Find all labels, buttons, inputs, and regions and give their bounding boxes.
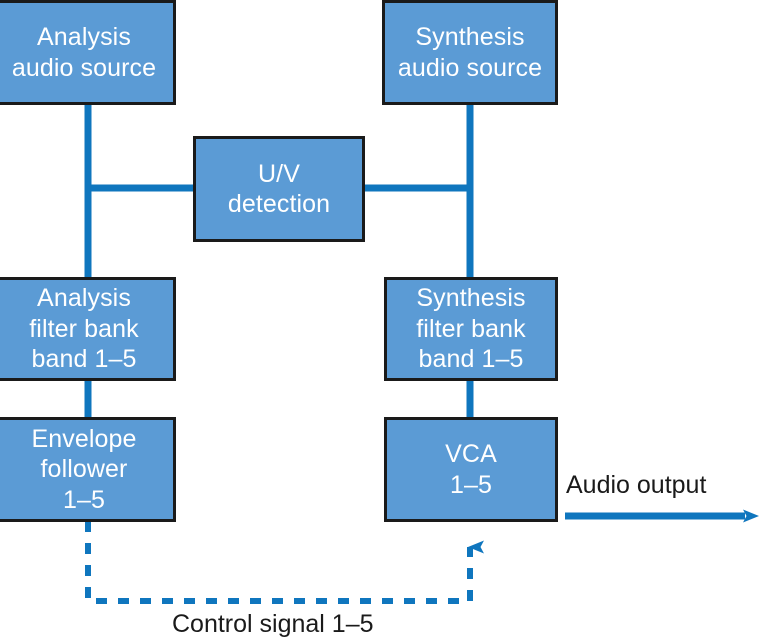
node-line: audio source <box>392 53 548 84</box>
node-analysis-audio-source-label: Analysis audio source <box>0 22 168 83</box>
node-line: U/V <box>222 159 336 190</box>
node-uv-detection-label: U/V detection <box>216 159 342 220</box>
node-vca[interactable]: VCA 1–5 <box>384 417 558 522</box>
node-line: filter bank <box>410 314 532 345</box>
node-synthesis-filter-bank[interactable]: Synthesis filter bank band 1–5 <box>384 277 558 381</box>
node-line: audio source <box>6 53 162 84</box>
node-line: follower <box>25 454 142 485</box>
node-line: Synthesis <box>392 22 548 53</box>
node-analysis-audio-source[interactable]: Analysis audio source <box>0 0 176 105</box>
node-line: Analysis <box>23 283 145 314</box>
caption-control-signal: Control signal 1–5 <box>172 610 374 639</box>
node-line: 1–5 <box>25 485 142 516</box>
node-line: Synthesis <box>410 283 532 314</box>
node-line: band 1–5 <box>23 344 145 375</box>
node-line: band 1–5 <box>410 344 532 375</box>
node-envelope-follower-label: Envelope follower 1–5 <box>19 424 148 516</box>
caption-audio-output: Audio output <box>566 471 706 500</box>
node-uv-detection[interactable]: U/V detection <box>193 136 365 242</box>
node-analysis-filter-bank[interactable]: Analysis filter bank band 1–5 <box>0 277 176 381</box>
node-envelope-follower[interactable]: Envelope follower 1–5 <box>0 417 176 522</box>
node-line: detection <box>222 189 336 220</box>
block-diagram-canvas: Analysis audio source Synthesis audio so… <box>0 0 772 642</box>
node-line: 1–5 <box>439 470 503 501</box>
node-line: Envelope <box>25 424 142 455</box>
node-synthesis-audio-source[interactable]: Synthesis audio source <box>382 0 558 105</box>
node-line: VCA <box>439 439 503 470</box>
node-synthesis-audio-source-label: Synthesis audio source <box>386 22 554 83</box>
node-vca-label: VCA 1–5 <box>433 439 509 500</box>
wire-control-signal-dashed <box>88 521 470 601</box>
node-analysis-filter-bank-label: Analysis filter bank band 1–5 <box>17 283 151 375</box>
node-line: Analysis <box>6 22 162 53</box>
node-synthesis-filter-bank-label: Synthesis filter bank band 1–5 <box>404 283 538 375</box>
node-line: filter bank <box>23 314 145 345</box>
